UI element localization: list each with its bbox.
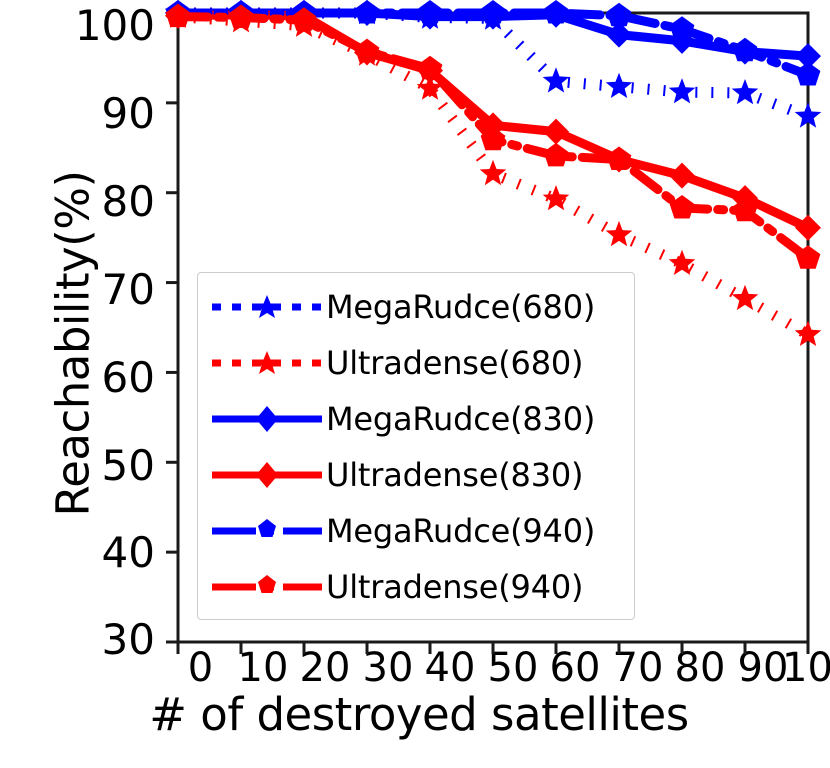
legend-label: Ultradense(830) [326,456,583,494]
y-tick-marks [166,13,178,642]
legend-label: MegaRudce(830) [326,400,595,438]
legend: MegaRudce(680) Ultradense(680) MegaRudce… [197,272,635,620]
legend-item-megarudce-830[interactable]: MegaRudce(830) [198,391,634,447]
legend-label: MegaRudce(940) [326,512,595,550]
legend-item-ultradense-680[interactable]: Ultradense(680) [198,335,634,391]
legend-swatch-megarudce-940 [208,511,326,551]
legend-item-megarudce-680[interactable]: MegaRudce(680) [198,279,634,335]
legend-label: MegaRudce(680) [326,288,595,326]
series-ultradense830 [165,2,821,241]
legend-swatch-ultradense-940 [208,567,326,607]
legend-swatch-ultradense-830 [208,455,326,495]
legend-swatch-ultradense-680 [208,343,326,383]
legend-item-megarudce-940[interactable]: MegaRudce(940) [198,503,634,559]
x-tick-marks [178,642,808,654]
legend-swatch-megarudce-680 [208,287,326,327]
legend-item-ultradense-940[interactable]: Ultradense(940) [198,559,634,615]
legend-label: Ultradense(680) [326,344,583,382]
legend-swatch-megarudce-830 [208,399,326,439]
legend-label: Ultradense(940) [326,568,583,606]
reachability-line-chart: Reachability(%) 100 90 80 70 60 50 40 30… [0,0,830,768]
legend-item-ultradense-830[interactable]: Ultradense(830) [198,447,634,503]
